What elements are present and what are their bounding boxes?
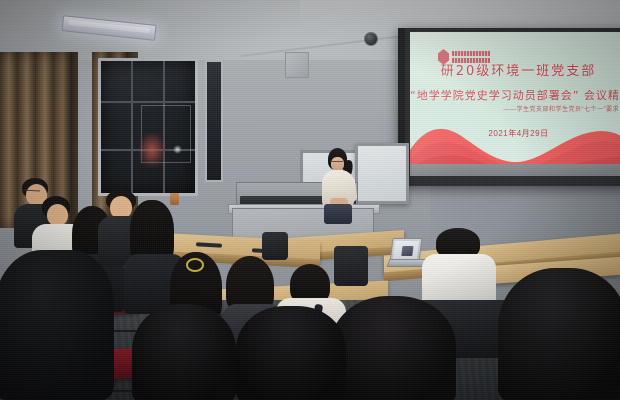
- window-highlight: [173, 145, 182, 154]
- slide-subtitle-note: ——学生党支部和学生党员“七个一”要求: [504, 104, 620, 113]
- chair-back: [262, 232, 288, 260]
- screen-lower-band: [410, 164, 620, 176]
- foreground-student-silhouette: [330, 296, 456, 400]
- hair-tie-icon: [186, 258, 204, 272]
- slide-content: 研20级环境一班党支部 “地学学院党史学习动员部署会” 会议精神传达 ——学生党…: [410, 32, 620, 176]
- slide-subtitle: “地学学院党史学习动员部署会” 会议精神传达: [410, 87, 620, 103]
- foreground-student-silhouette: [498, 268, 620, 400]
- foreground-student-silhouette: [236, 306, 346, 400]
- ceiling-dome-speaker-icon: [364, 32, 378, 46]
- whiteboard: [355, 143, 409, 204]
- foreground-student-silhouette: [132, 304, 236, 400]
- presenter-skirt: [324, 204, 352, 224]
- wall-junction-box: [285, 52, 309, 78]
- foreground-student-silhouette: [0, 250, 114, 400]
- glasses-icon: [22, 190, 40, 196]
- projection-screen: 研20级环境一班党支部 “地学学院党史学习动员部署会” 会议精神传达 ——学生党…: [398, 28, 620, 186]
- window-side-pane: [205, 60, 223, 182]
- chair-back: [334, 246, 368, 286]
- slide-title: 研20级环境一班党支部: [410, 60, 620, 79]
- window-reflection: [139, 133, 165, 167]
- cup-icon: [170, 193, 179, 205]
- laptop-screen-thumbnail: [401, 246, 413, 256]
- classroom-photo: 研20级环境一班党支部 “地学学院党史学习动员部署会” 会议精神传达 ——学生党…: [0, 0, 620, 400]
- laptop: [388, 238, 424, 268]
- window: [98, 58, 198, 196]
- glasses-icon: [330, 161, 343, 165]
- presenter: [316, 148, 360, 224]
- laptop-screen: [393, 241, 419, 259]
